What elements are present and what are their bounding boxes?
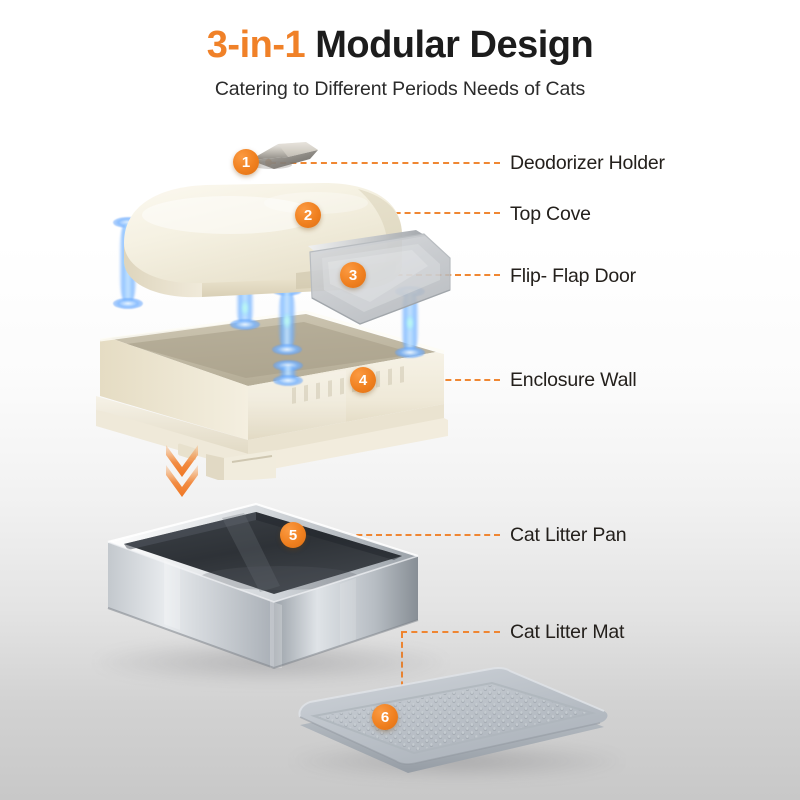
callout-label-cat-litter-mat: Cat Litter Mat: [510, 621, 624, 644]
deodorizer-holder-part: [248, 138, 320, 172]
product-exploded-view: [0, 0, 800, 800]
flip-flap-door-part: [300, 228, 456, 340]
infographic-canvas: 3-in-1 Modular Design Catering to Differ…: [0, 0, 800, 800]
callout-label-enclosure-wall: Enclosure Wall: [510, 369, 637, 392]
callout-label-top-cove: Top Cove: [510, 203, 591, 226]
callout-badge-5[interactable]: 5: [280, 522, 306, 548]
callout-badge-2[interactable]: 2: [295, 202, 321, 228]
callout-badge-3[interactable]: 3: [340, 262, 366, 288]
callout-badge-4[interactable]: 4: [350, 367, 376, 393]
callout-label-flip-flap-door: Flip- Flap Door: [510, 265, 636, 288]
assembly-direction-arrows: [163, 443, 201, 499]
callout-badge-6[interactable]: 6: [372, 704, 398, 730]
litter-pan-part: [104, 498, 422, 678]
callout-label-deodorizer-holder: Deodorizer Holder: [510, 152, 665, 175]
callout-label-cat-litter-pan: Cat Litter Pan: [510, 524, 626, 547]
callout-badge-1[interactable]: 1: [233, 149, 259, 175]
